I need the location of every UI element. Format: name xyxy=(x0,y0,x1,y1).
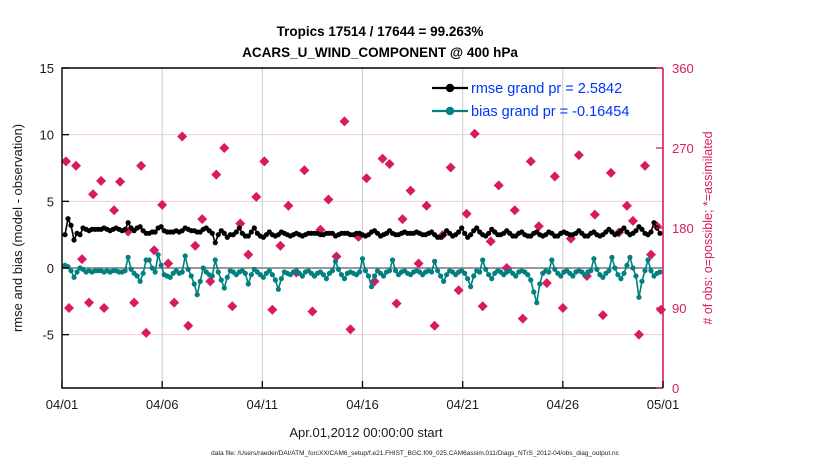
series-point xyxy=(636,295,641,300)
tick-label-left: 5 xyxy=(47,194,54,209)
series-point xyxy=(465,276,470,281)
series-point xyxy=(195,292,200,297)
series-point xyxy=(147,257,152,262)
y-axis-label-right: # of obs: o=possible; *=assimilated xyxy=(701,131,715,324)
series-point xyxy=(387,268,392,273)
series-point xyxy=(645,257,650,262)
series-point xyxy=(588,268,593,273)
series-point xyxy=(324,276,329,281)
series-point xyxy=(630,265,635,270)
tick-label-bottom: 04/16 xyxy=(346,397,379,412)
series-point xyxy=(483,267,488,272)
tick-label-right: 90 xyxy=(672,301,686,316)
series-point xyxy=(342,276,347,281)
series-point xyxy=(360,256,365,261)
series-point xyxy=(549,257,554,262)
series-point xyxy=(126,220,131,225)
series-point xyxy=(189,273,194,278)
series-point xyxy=(273,277,278,282)
figure-title-line2: ACARS_U_WIND_COMPONENT @ 400 hPa xyxy=(242,45,518,60)
legend-label-rmse: rmse grand pr = 2.5842 xyxy=(471,81,622,97)
tick-label-bottom: 05/01 xyxy=(647,397,680,412)
series-point xyxy=(657,269,662,274)
series-point xyxy=(432,259,437,264)
series-point xyxy=(537,281,542,286)
tick-label-right: 180 xyxy=(672,221,694,236)
observation-diagnostics-figure: Tropics 17514 / 17644 = 99.263% ACARS_U_… xyxy=(0,0,830,470)
series-point xyxy=(642,268,647,273)
tick-label-right: 360 xyxy=(672,61,694,76)
series-point xyxy=(183,253,188,258)
tick-label-left: -5 xyxy=(42,328,54,343)
series-point xyxy=(624,263,629,268)
series-point xyxy=(441,279,446,284)
series-point xyxy=(213,257,218,262)
series-point xyxy=(71,237,76,242)
series-point xyxy=(159,263,164,268)
legend-marker-rmse xyxy=(446,84,454,92)
series-point xyxy=(141,271,146,276)
series-point xyxy=(243,271,248,276)
series-point xyxy=(237,225,242,230)
series-point xyxy=(477,269,482,274)
tick-label-right: 0 xyxy=(672,381,679,396)
tick-label-left: 0 xyxy=(47,261,54,276)
series-point xyxy=(333,259,338,264)
data-file-footnote: data file: /Users/raeder/DAI/ATM_forcXX/… xyxy=(211,450,620,457)
figure-title-line1: Tropics 17514 / 17644 = 99.263% xyxy=(277,24,484,39)
series-point xyxy=(198,279,203,284)
series-point xyxy=(369,284,374,289)
series-point xyxy=(390,257,395,262)
series-point xyxy=(77,232,82,237)
series-point xyxy=(459,225,464,230)
series-point xyxy=(270,272,275,277)
series-point xyxy=(225,275,230,280)
series-point xyxy=(435,268,440,273)
series-point xyxy=(279,276,284,281)
series-point xyxy=(621,271,626,276)
series-point xyxy=(156,252,161,257)
series-point xyxy=(126,255,131,260)
series-point xyxy=(219,277,224,282)
series-point xyxy=(71,275,76,280)
series-point xyxy=(612,265,617,270)
series-point xyxy=(65,216,70,221)
series-point xyxy=(471,273,476,278)
tick-label-bottom: 04/26 xyxy=(547,397,580,412)
series-point xyxy=(372,273,377,278)
series-point xyxy=(489,276,494,281)
series-point xyxy=(138,279,143,284)
tick-label-right: 270 xyxy=(672,141,694,156)
series-point xyxy=(213,240,218,245)
series-point xyxy=(591,256,596,261)
tick-label-bottom: 04/06 xyxy=(146,397,179,412)
x-axis-label: Apr.01,2012 00:00:00 start xyxy=(289,425,443,440)
series-point xyxy=(336,267,341,272)
series-point xyxy=(657,231,662,236)
series-point xyxy=(429,269,434,274)
series-point xyxy=(210,273,215,278)
series-point xyxy=(123,268,128,273)
y-axis-label-left: rmse and bias (model - observation) xyxy=(10,124,25,332)
series-point xyxy=(252,225,257,230)
series-point xyxy=(468,284,473,289)
series-point xyxy=(192,281,197,286)
tick-label-bottom: 04/01 xyxy=(46,397,79,412)
series-point xyxy=(618,276,623,281)
series-point xyxy=(222,285,227,290)
series-point xyxy=(648,268,653,273)
legend-marker-bias xyxy=(446,107,454,115)
series-point xyxy=(531,289,536,294)
series-point xyxy=(186,267,191,272)
tick-label-left: 10 xyxy=(40,128,54,143)
series-point xyxy=(246,281,251,286)
series-point xyxy=(528,277,533,282)
series-point xyxy=(68,223,73,228)
series-point xyxy=(480,257,485,262)
series-point xyxy=(633,273,638,278)
tick-label-left: 15 xyxy=(40,61,54,76)
series-point xyxy=(216,269,221,274)
series-point xyxy=(609,255,614,260)
tick-label-bottom: 04/11 xyxy=(247,397,279,412)
series-point xyxy=(366,273,371,278)
series-point xyxy=(62,232,67,237)
series-point xyxy=(249,272,254,277)
series-point xyxy=(639,279,644,284)
series-point xyxy=(123,227,128,232)
legend-label-bias: bias grand pr = -0.16454 xyxy=(471,104,629,120)
series-point xyxy=(363,268,368,273)
series-point xyxy=(534,300,539,305)
series-point xyxy=(651,220,656,225)
series-point xyxy=(438,273,443,278)
series-point xyxy=(594,267,599,272)
series-point xyxy=(68,268,73,273)
series-point xyxy=(525,272,530,277)
series-point xyxy=(357,269,362,274)
series-point xyxy=(135,273,140,278)
series-point xyxy=(276,287,281,292)
series-point xyxy=(606,268,611,273)
series-point xyxy=(180,269,185,274)
tick-label-bottom: 04/21 xyxy=(446,397,479,412)
series-point xyxy=(462,271,467,276)
series-point xyxy=(546,269,551,274)
series-point xyxy=(330,268,335,273)
series-point xyxy=(210,231,215,236)
series-point xyxy=(648,229,653,234)
series-point xyxy=(627,255,632,260)
series-point xyxy=(153,269,158,274)
